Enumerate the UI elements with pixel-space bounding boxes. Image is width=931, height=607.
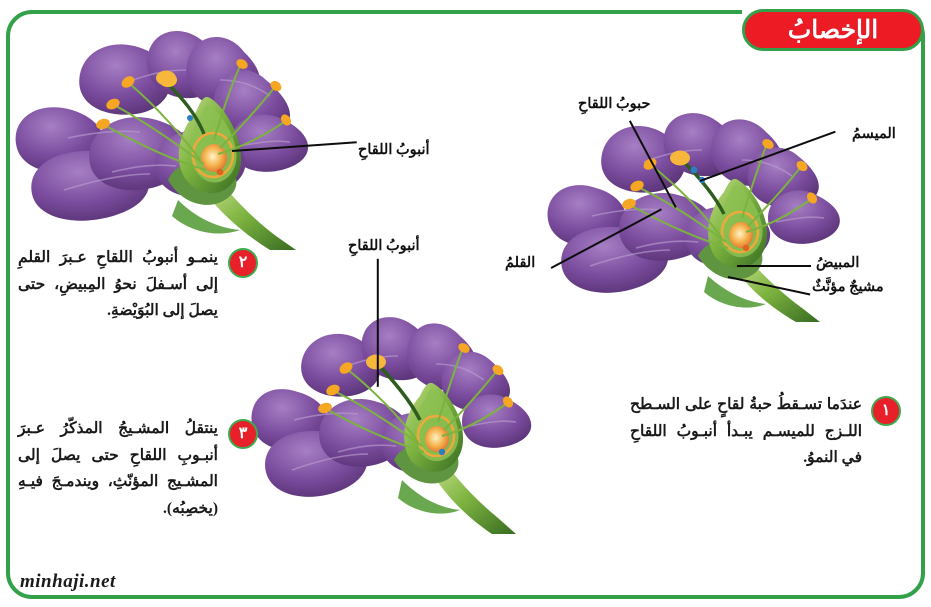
step-text-3: ينتقلُ المشـيجُ المذكّرُ عـبرَ أنبـوبِ ا…: [18, 416, 218, 523]
callout-pollen-tube-top: أنبوبُ اللقاحِ: [358, 142, 430, 159]
flower-illustration-stage-2: [8, 22, 368, 252]
flower-illustration-stage-3: [250, 300, 550, 540]
step-badge-2: ٢: [228, 248, 258, 278]
page-root: أنبوبُ اللقاحِ حبوبُ اللقاحِ الميسمُ الق…: [0, 0, 931, 607]
callout-pollen-grains: حبوبُ اللقاحِ: [578, 96, 650, 113]
callout-stigma: الميسمُ: [852, 126, 896, 143]
page-title: الإخصابُ: [742, 9, 924, 51]
callout-female-gamete: مشيجٌ مؤنَّثٌ: [812, 279, 884, 296]
callout-pollen-tube-mid: أنبوبُ اللقاحِ: [348, 238, 420, 255]
step-badge-1: ١: [871, 396, 901, 426]
callout-style: القلمُ: [505, 255, 535, 272]
callout-ovary: المبيضُ: [816, 255, 859, 272]
step-badge-3: ٣: [228, 419, 258, 449]
watermark: minhaji.net: [20, 571, 116, 593]
leader-line-pollen-tube-mid: [377, 259, 379, 387]
step-text-2: ينمـو أنبوبُ اللقاحِ عـبرَ القلمِ إلى أس…: [18, 245, 218, 325]
leader-line-ovary: [737, 265, 811, 267]
step-text-1: عندَما تسـقطُ حبةُ لقاحٍ على السـطح اللـ…: [630, 392, 862, 472]
